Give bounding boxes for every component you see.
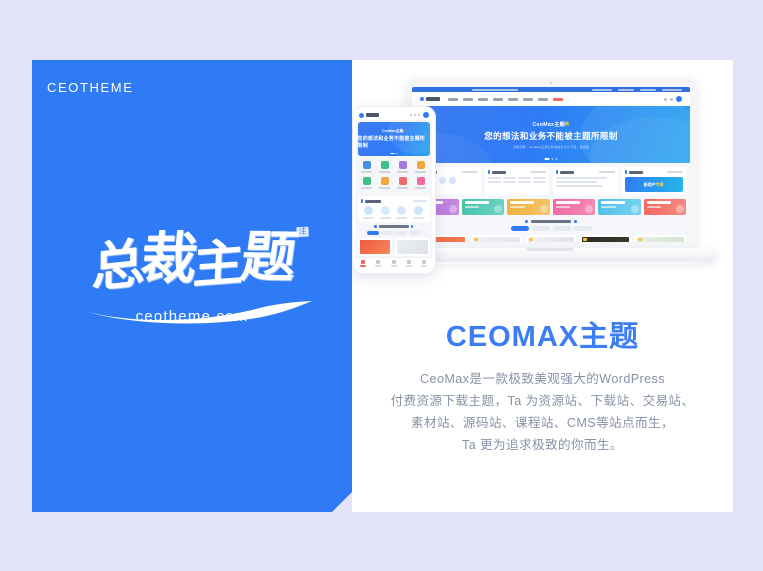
description-line: 付费资源下载主题，Ta 为资源站、下载站、交易站、 <box>370 390 715 412</box>
nav-item[interactable] <box>478 98 488 101</box>
quick-icon[interactable] <box>412 161 430 173</box>
nav-actions <box>664 96 682 102</box>
hero-eyebrow: CeoMax主题● <box>382 129 405 134</box>
feature-icon[interactable] <box>413 206 424 219</box>
hero-carousel-dots[interactable] <box>390 153 397 155</box>
nav-item[interactable] <box>508 98 518 101</box>
nav-item[interactable] <box>523 98 533 101</box>
hero-subtitle: 无限可能，CeoMax主题让你的站点与众不同，更出色 <box>513 145 589 149</box>
thumbnail-card[interactable] <box>471 235 522 242</box>
feature-icon[interactable] <box>363 206 374 219</box>
thumbnail-card[interactable] <box>635 235 686 242</box>
thumbnail-card[interactable] <box>395 238 430 256</box>
filter-tab[interactable] <box>574 226 592 231</box>
ad-highlight: 专享 <box>656 182 664 187</box>
filter-tab[interactable] <box>553 226 571 231</box>
thumbnail-row <box>416 235 686 242</box>
phone-quick-icons <box>356 158 432 194</box>
feature-box-list <box>553 167 618 195</box>
logo-char-3: 主 <box>192 238 242 292</box>
phone-thumbnail-row <box>356 235 432 256</box>
quick-icon[interactable] <box>358 161 376 173</box>
description: CeoMax是一款极致美观强大的WordPress 付费资源下载主题，Ta 为资… <box>370 368 715 456</box>
filter-tabs <box>416 226 686 231</box>
site-logo-text <box>366 113 379 117</box>
phone-mockup: CeoMax主题● 您的想法和业务不能被主题所限制 <box>352 106 436 274</box>
category-card[interactable] <box>553 199 596 215</box>
quick-icon[interactable] <box>376 177 394 189</box>
nav-item[interactable] <box>538 98 548 101</box>
text-list <box>556 177 615 187</box>
hero-title: 您的想法和业务不能被主题所限制 <box>358 135 430 149</box>
tabbar-item-message[interactable] <box>401 260 416 267</box>
site-logo-text <box>426 97 440 101</box>
thumbnail-card[interactable] <box>358 238 393 256</box>
feature-icon-row <box>361 206 427 219</box>
laptop-lid: CeoMax主题新 您的想法和业务不能被主题所限制 无限可能，CeoMax主题让… <box>406 78 696 248</box>
phone-hero: CeoMax主题● 您的想法和业务不能被主题所限制 <box>358 122 430 156</box>
hero-carousel-dots[interactable] <box>545 158 558 160</box>
laptop-base-edge <box>390 260 710 264</box>
laptop-announcement-bar <box>412 87 690 92</box>
avatar[interactable] <box>676 96 682 102</box>
quick-icon[interactable] <box>358 177 376 189</box>
bell-icon[interactable] <box>670 98 673 101</box>
ad-text: 新用户 <box>644 182 656 187</box>
laptop-screen: CeoMax主题新 您的想法和业务不能被主题所限制 无限可能，CeoMax主题让… <box>412 87 690 242</box>
feature-box-grid <box>485 167 550 195</box>
logo-char-1: 总 <box>91 237 142 295</box>
laptop-page-body: 新用户专享 <box>412 163 690 242</box>
filter-tab[interactable] <box>367 231 379 235</box>
tabbar-item-publish[interactable] <box>386 260 401 267</box>
phone-navbar <box>356 110 432 120</box>
hero-eyebrow-text: CeoMax主题 <box>382 129 403 133</box>
filter-tab[interactable] <box>409 231 421 235</box>
section-title <box>416 220 686 223</box>
nav-menu <box>448 98 664 101</box>
phone-screen: CeoMax主题● 您的想法和业务不能被主题所限制 <box>356 110 432 269</box>
site-logo-icon <box>359 113 364 118</box>
brand-panel: CEOTHEME 总裁主题 注 ceotheme.com <box>32 60 352 512</box>
nav-item[interactable] <box>463 98 473 101</box>
ad-banner[interactable]: 新用户专享 <box>625 177 684 192</box>
logo-characters: 总裁主题 注 <box>89 231 294 292</box>
trademark-icon: 注 <box>296 227 308 237</box>
description-line: Ta 更为追求极致的你而生。 <box>370 434 715 456</box>
hero-eyebrow-text: CeoMax主题 <box>533 122 566 128</box>
phone-nav-actions[interactable] <box>410 114 420 116</box>
laptop-navbar <box>412 92 690 106</box>
thumbnail-card[interactable] <box>580 235 631 242</box>
phone-feature-card <box>358 196 430 222</box>
nav-item-hot[interactable] <box>553 98 563 101</box>
description-line: CeoMax是一款极致美观强大的WordPress <box>370 368 715 390</box>
content-panel: CeoMax主题新 您的想法和业务不能被主题所限制 无限可能，CeoMax主题让… <box>352 60 733 512</box>
hero-badge: ● <box>403 129 405 133</box>
device-mockup: CeoMax主题新 您的想法和业务不能被主题所限制 无限可能，CeoMax主题让… <box>352 78 733 283</box>
filter-tab[interactable] <box>395 231 407 235</box>
filter-tab[interactable] <box>532 226 550 231</box>
avatar[interactable] <box>423 112 429 118</box>
feature-row: 新用户专享 <box>416 167 686 195</box>
filter-tab[interactable] <box>381 231 393 235</box>
thumbnail-card[interactable] <box>526 235 577 242</box>
tabbar-item-profile[interactable] <box>416 260 431 267</box>
promo-card: CEOTHEME 总裁主题 注 ceotheme.com <box>32 60 733 512</box>
category-card[interactable] <box>644 199 687 215</box>
logo-char-2: 裁 <box>137 231 197 287</box>
hero-title: 您的想法和业务不能被主题所限制 <box>484 130 618 142</box>
quick-icon[interactable] <box>412 177 430 189</box>
phone-tabbar <box>356 257 432 269</box>
tag-grid <box>488 177 547 183</box>
hero-badge: 新 <box>565 121 569 126</box>
search-icon[interactable] <box>664 98 667 101</box>
quick-icon[interactable] <box>376 161 394 173</box>
filter-tab[interactable] <box>511 226 529 231</box>
quick-icon[interactable] <box>394 177 412 189</box>
webcam-icon <box>550 82 552 84</box>
laptop-hero: CeoMax主题新 您的想法和业务不能被主题所限制 无限可能，CeoMax主题让… <box>412 106 690 163</box>
logo-char-4: 题 <box>238 230 297 286</box>
quick-icon[interactable] <box>394 161 412 173</box>
hero-eyebrow: CeoMax主题新 <box>533 121 570 128</box>
tabbar-item-home[interactable] <box>356 260 371 267</box>
tabbar-item-category[interactable] <box>371 260 386 267</box>
category-card[interactable] <box>598 199 641 215</box>
brand-label: CEOTHEME <box>47 80 133 95</box>
category-card-row <box>416 199 686 215</box>
phone-section-title <box>356 225 432 228</box>
ceotheme-logo: 总裁主题 注 <box>32 235 352 288</box>
feature-icon[interactable] <box>396 206 407 219</box>
feature-icon[interactable] <box>380 206 391 219</box>
page-title: CEOMAX主题 <box>352 313 733 355</box>
logo-url: ceotheme.com <box>32 308 352 325</box>
feature-box-ad: 新用户专享 <box>622 167 687 195</box>
category-card[interactable] <box>507 199 550 215</box>
description-line: 素材站、源码站、课程站、CMS等站点而生， <box>370 412 715 434</box>
nav-item[interactable] <box>493 98 503 101</box>
site-logo-icon <box>420 97 424 101</box>
nav-item[interactable] <box>448 98 458 101</box>
category-card[interactable] <box>462 199 505 215</box>
